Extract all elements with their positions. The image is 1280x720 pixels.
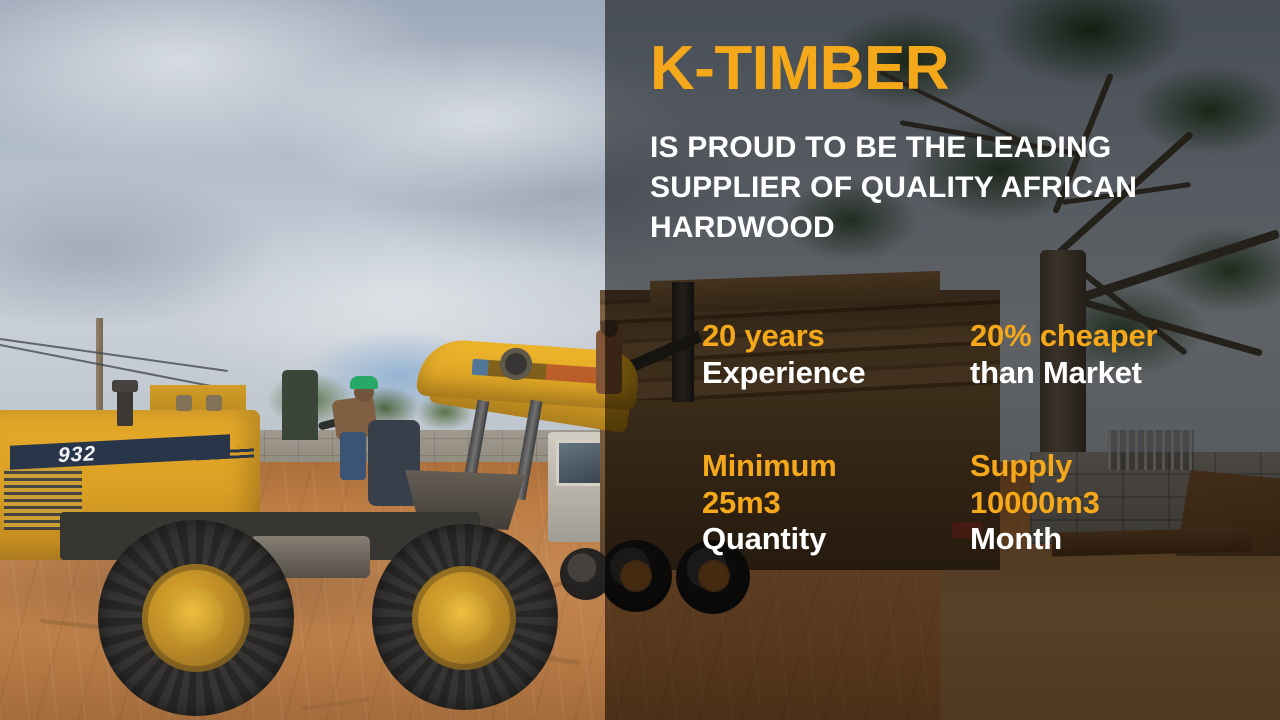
stat-cheaper-label: than Market: [970, 355, 1250, 392]
stat-supply-highlight-line1: Supply: [970, 448, 1250, 485]
marketing-banner: 932: [0, 0, 1280, 720]
banner-content: K-TIMBER IS PROUD TO BE THE LEADING SUPP…: [0, 0, 1280, 720]
stat-supply-label: Month: [970, 521, 1250, 558]
stat-cheaper: 20% cheaper than Market: [970, 318, 1250, 391]
stats-grid: 20 years Experience 20% cheaper than Mar…: [0, 0, 1280, 720]
stat-experience-label: Experience: [702, 355, 982, 392]
stat-minimum-highlight-line1: Minimum: [702, 448, 982, 485]
stat-experience-highlight: 20 years: [702, 318, 982, 355]
stat-supply: Supply 10000m3 Month: [970, 448, 1250, 558]
stat-minimum-quantity: Minimum 25m3 Quantity: [702, 448, 982, 558]
stat-experience: 20 years Experience: [702, 318, 982, 391]
stat-minimum-highlight-line2: 25m3: [702, 485, 982, 522]
stat-supply-highlight-line2: 10000m3: [970, 485, 1250, 522]
stat-minimum-label: Quantity: [702, 521, 982, 558]
stat-cheaper-highlight: 20% cheaper: [970, 318, 1250, 355]
